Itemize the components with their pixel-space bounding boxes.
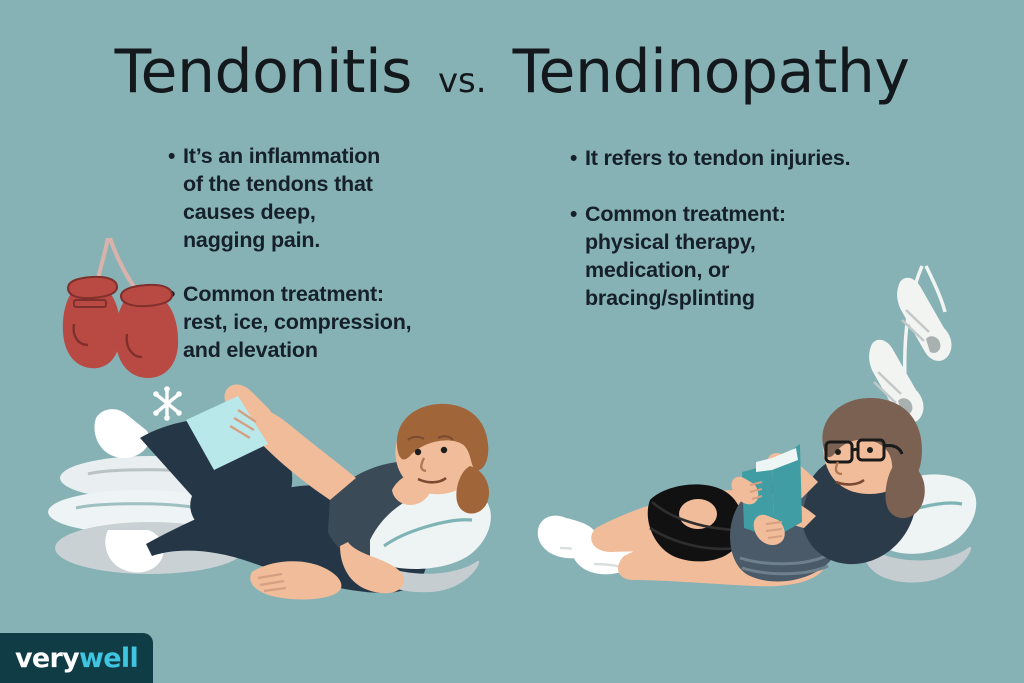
woman-reading-illustration bbox=[538, 398, 976, 586]
leg-lower bbox=[146, 485, 427, 593]
head bbox=[395, 409, 480, 494]
torso-shirt bbox=[802, 449, 917, 564]
knee-brace bbox=[648, 484, 743, 561]
logo-text-very: very bbox=[15, 643, 79, 674]
right-column-bullets: • It refers to tendon injuries. • Common… bbox=[570, 145, 930, 341]
finger-lines bbox=[230, 410, 256, 438]
knee-brace-opening bbox=[679, 499, 717, 529]
hair bbox=[397, 404, 488, 470]
shoe-front bbox=[572, 532, 634, 575]
leg-upper bbox=[140, 418, 292, 536]
arm-lower bbox=[340, 542, 404, 593]
bullet-marker-icon: • bbox=[570, 145, 583, 172]
bullet-text: Common treatment: rest, ice, compression… bbox=[183, 281, 468, 365]
sock-lower bbox=[105, 530, 163, 573]
bullet-text: It’s an inflammation of the tendons that… bbox=[183, 143, 468, 255]
head-pillow bbox=[370, 488, 491, 592]
verywell-logo[interactable]: verywell bbox=[0, 633, 153, 683]
torso-shirt bbox=[328, 461, 462, 567]
book-left-page bbox=[742, 464, 774, 538]
hair bbox=[822, 398, 922, 492]
head-pillow bbox=[862, 474, 976, 582]
eye-left bbox=[415, 449, 421, 455]
title-left-term: Tendonitis bbox=[115, 42, 412, 102]
sleeve bbox=[862, 466, 913, 522]
hand-bottom bbox=[754, 515, 785, 545]
pillow-stack bbox=[48, 456, 245, 574]
list-item: • It’s an inflammation of the tendons th… bbox=[168, 143, 468, 255]
bullet-marker-icon: • bbox=[168, 143, 181, 170]
bullet-marker-icon: • bbox=[570, 201, 583, 228]
infographic-canvas: Tendonitis vs. Tendinopathy • It’s an in… bbox=[0, 0, 1024, 683]
book-right-page bbox=[772, 444, 802, 538]
leg-back bbox=[591, 490, 810, 556]
hand-lower bbox=[250, 561, 341, 599]
glasses-icon bbox=[826, 440, 902, 462]
leg-front bbox=[618, 522, 828, 586]
hair-back bbox=[885, 460, 924, 518]
eye-right bbox=[441, 447, 447, 453]
list-item: • Common treatment: physical therapy, me… bbox=[570, 201, 930, 313]
mouth bbox=[836, 480, 864, 484]
logo-text-well: well bbox=[79, 643, 138, 674]
arm-upper bbox=[767, 453, 818, 500]
head bbox=[823, 402, 916, 494]
eye-right bbox=[867, 447, 873, 453]
title-row: Tendonitis vs. Tendinopathy bbox=[0, 42, 1024, 102]
hand-top bbox=[732, 477, 759, 505]
neck bbox=[834, 455, 867, 485]
shorts bbox=[730, 482, 842, 582]
book-pages-edge bbox=[756, 458, 772, 472]
arm-upper bbox=[247, 410, 356, 500]
boxing-gloves-icon bbox=[63, 238, 178, 378]
bullet-text: It refers to tendon injuries. bbox=[585, 145, 930, 173]
hand-on-icepack bbox=[225, 385, 273, 429]
list-item: • Common treatment: rest, ice, compressi… bbox=[168, 281, 468, 365]
ponytail bbox=[456, 466, 489, 514]
neck bbox=[392, 473, 432, 505]
title-separator: vs. bbox=[438, 64, 487, 98]
left-column-bullets: • It’s an inflammation of the tendons th… bbox=[168, 143, 468, 391]
title-right-term: Tendinopathy bbox=[513, 42, 910, 102]
arm-lower bbox=[766, 494, 816, 528]
ice-pack bbox=[186, 396, 268, 470]
shoe-back bbox=[538, 516, 598, 559]
snowflake-icon bbox=[153, 386, 182, 421]
woman-icing-knee-illustration bbox=[48, 385, 491, 600]
eye-left bbox=[835, 449, 841, 455]
list-item: • It refers to tendon injuries. bbox=[570, 145, 930, 173]
nose bbox=[421, 458, 426, 471]
sock-upper bbox=[94, 409, 149, 458]
nose bbox=[836, 462, 842, 474]
bullet-marker-icon: • bbox=[168, 281, 181, 308]
bullet-text: Common treatment: physical therapy, medi… bbox=[585, 201, 930, 313]
mouth bbox=[418, 478, 446, 482]
